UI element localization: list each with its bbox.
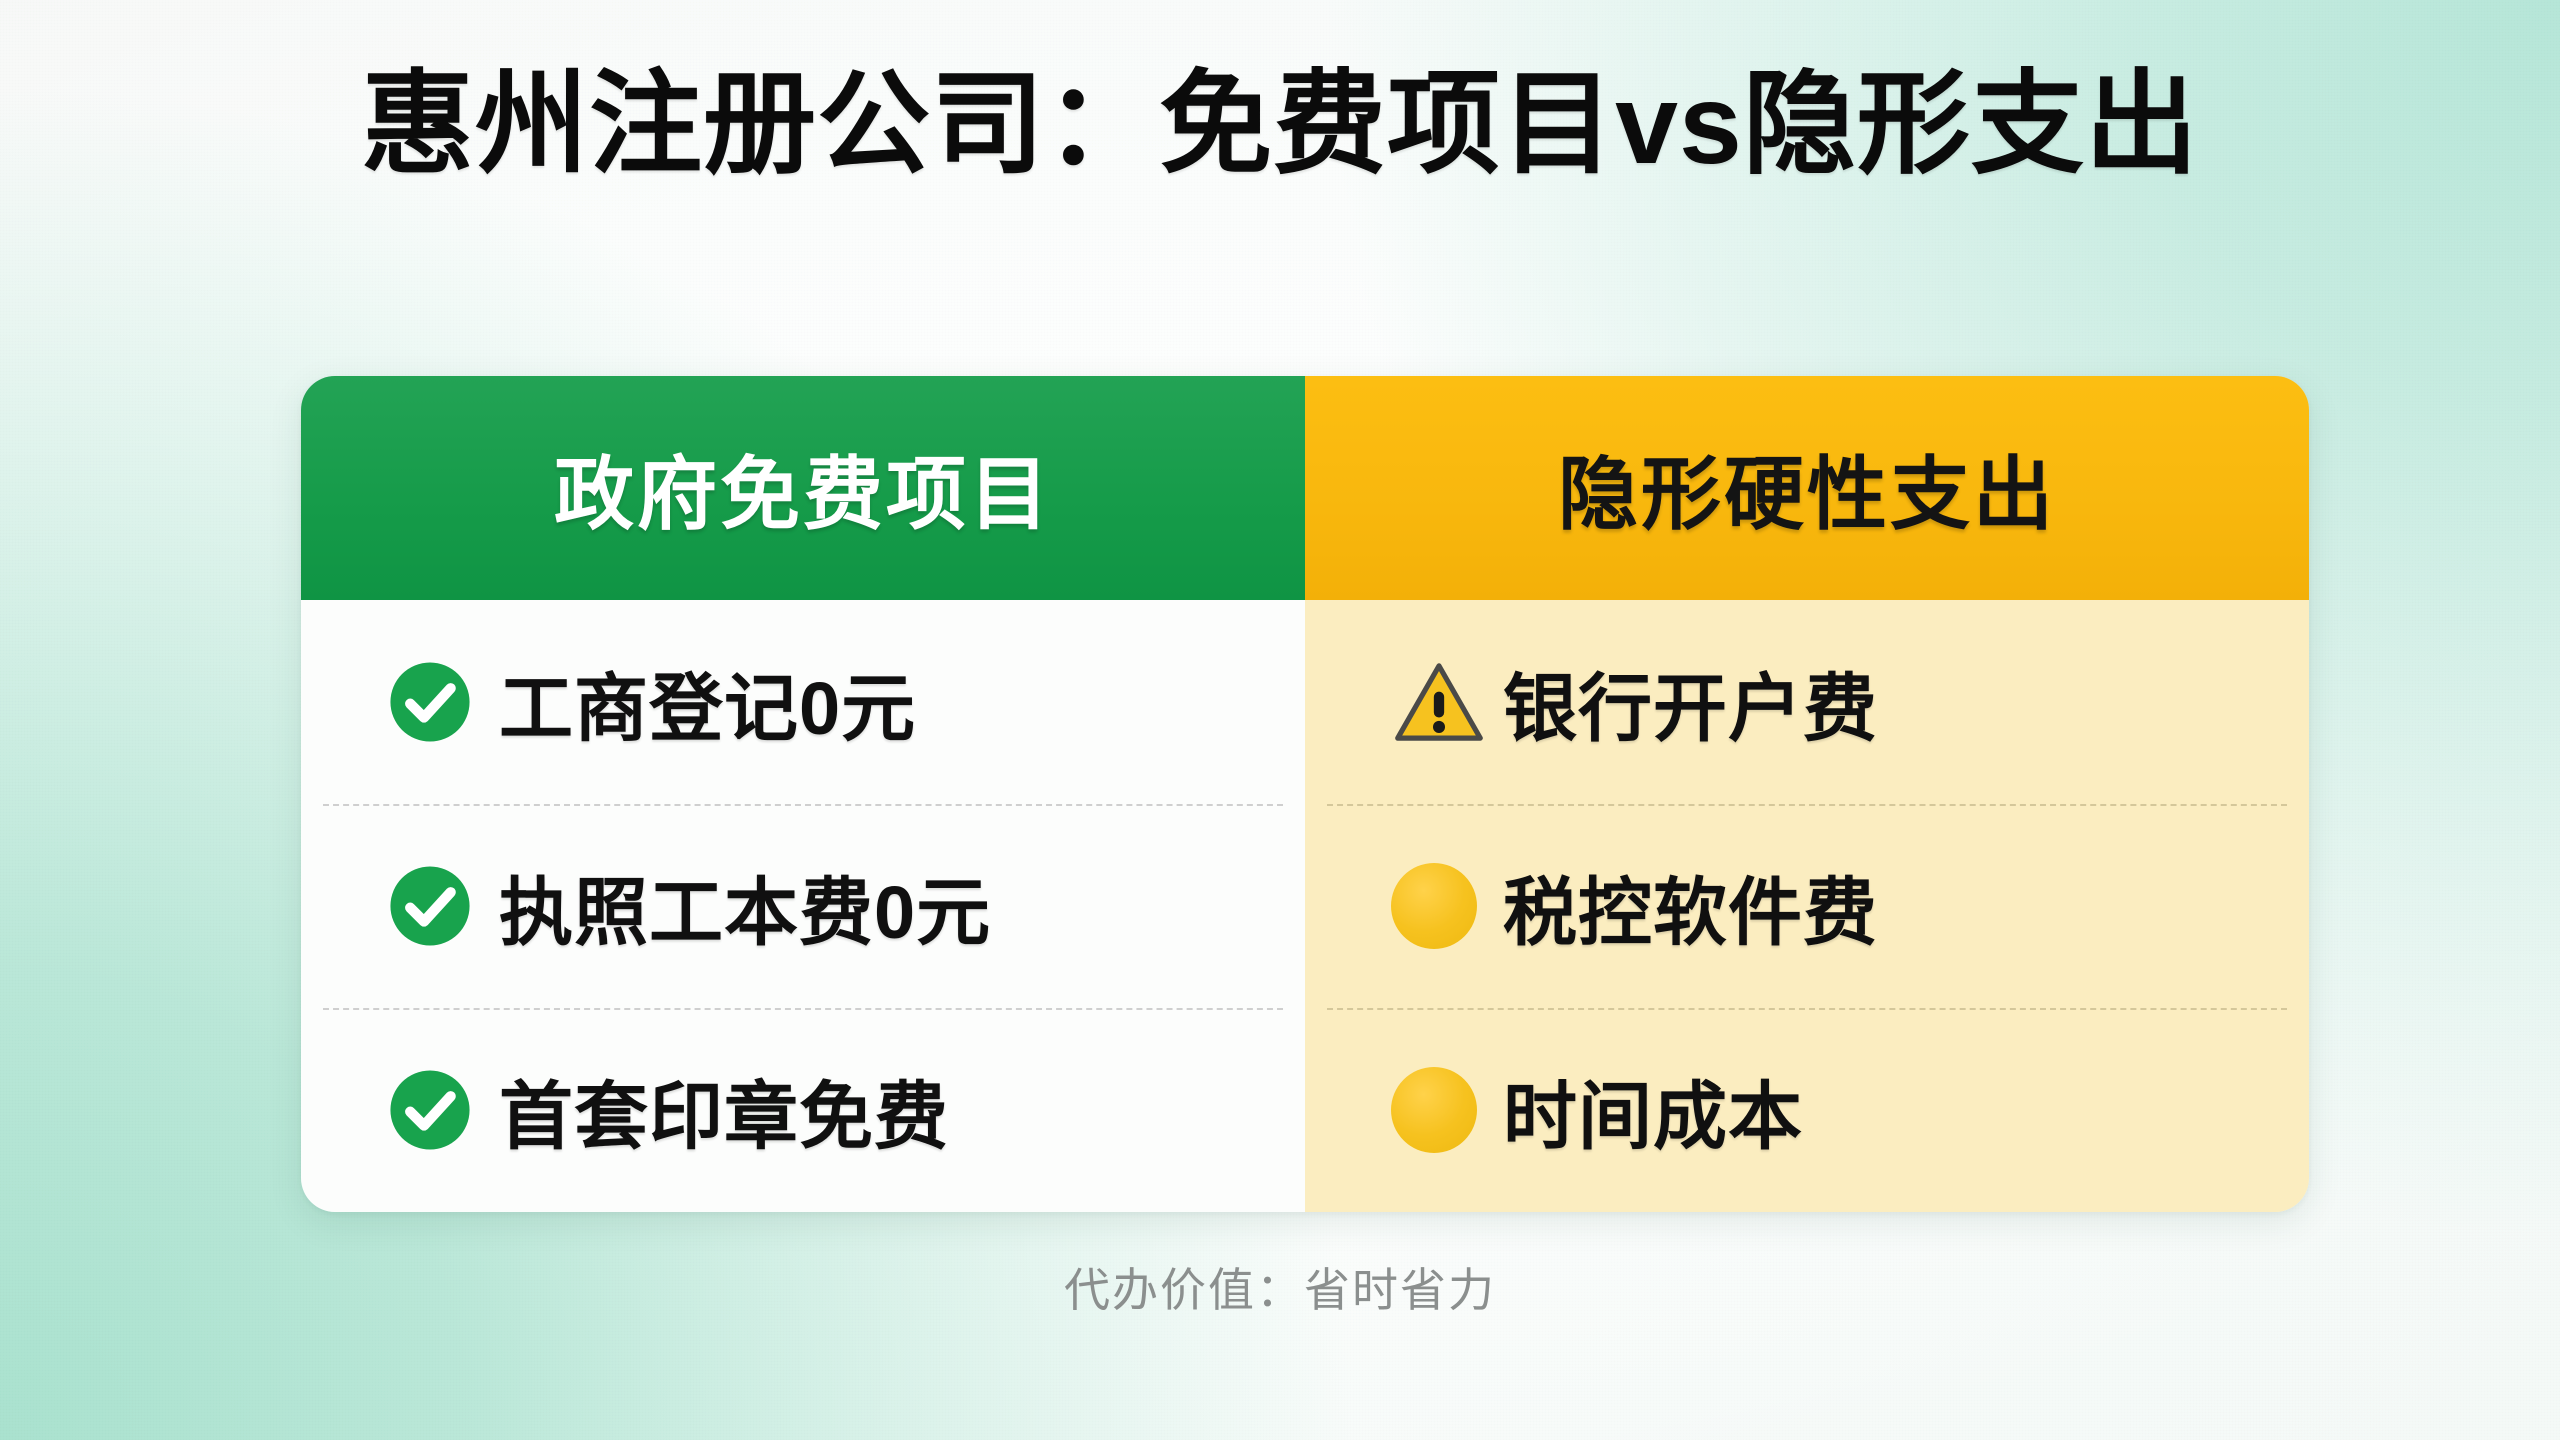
list-item[interactable]: 时间成本 — [1305, 1008, 2309, 1212]
list-item[interactable]: 执照工本费0元 — [301, 804, 1305, 1008]
list-item-label: 税控软件费 — [1503, 853, 1878, 960]
check-circle-icon — [387, 863, 499, 949]
list-item-label: 工商登记0元 — [499, 649, 916, 756]
check-circle-icon — [387, 659, 499, 745]
column-government-free: 政府免费项目 工商登记0元 — [301, 376, 1305, 1212]
list-item[interactable]: 税控软件费 — [1305, 804, 2309, 1008]
list-item[interactable]: 银行开户费 — [1305, 600, 2309, 804]
page-title: 惠州注册公司：免费项目vs隐形支出 — [0, 58, 2560, 191]
comparison-card: 政府免费项目 工商登记0元 — [301, 376, 2309, 1212]
column-header-hidden-costs: 隐形硬性支出 — [1305, 376, 2309, 600]
row-list-government-free: 工商登记0元 执照工本费0元 — [301, 600, 1305, 1212]
list-item[interactable]: 首套印章免费 — [301, 1008, 1305, 1212]
column-header-government-free: 政府免费项目 — [301, 376, 1305, 600]
list-item[interactable]: 工商登记0元 — [301, 600, 1305, 804]
column-hidden-costs: 隐形硬性支出 银行开户费 税控软 — [1305, 376, 2309, 1212]
dot-circle-icon — [1391, 863, 1503, 949]
list-item-label: 时间成本 — [1503, 1057, 1803, 1164]
check-circle-icon — [387, 1067, 499, 1153]
row-list-hidden-costs: 银行开户费 税控软件费 时间成本 — [1305, 600, 2309, 1212]
infographic-page: 惠州注册公司：免费项目vs隐形支出 政府免费项目 工商登记0元 — [0, 0, 2560, 1440]
list-item-label: 银行开户费 — [1503, 649, 1878, 756]
list-item-label: 首套印章免费 — [499, 1057, 949, 1164]
dot-circle-icon — [1391, 1067, 1503, 1153]
warning-triangle-icon — [1391, 659, 1503, 745]
list-item-label: 执照工本费0元 — [499, 853, 991, 960]
footer-note: 代办价值：省时省力 — [0, 1254, 2560, 1320]
